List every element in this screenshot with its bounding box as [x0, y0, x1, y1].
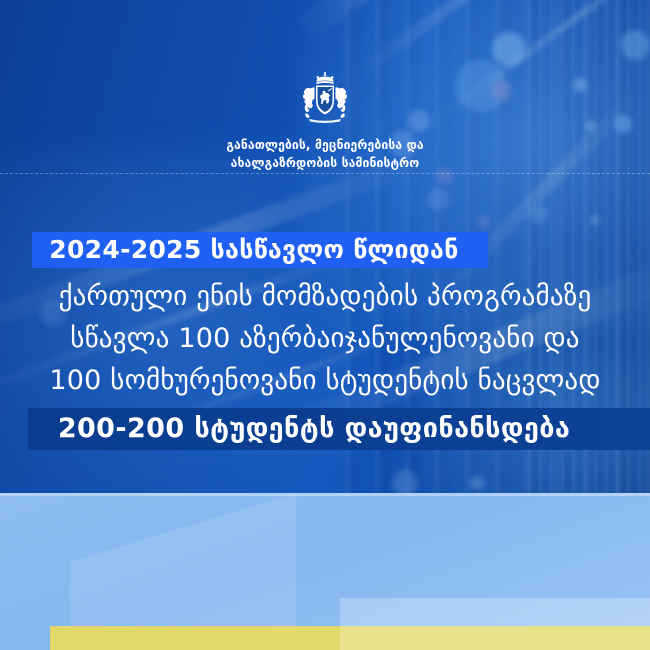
background-bokeh-circle [477, 215, 491, 229]
accent-yellow-bar-highlight [340, 626, 650, 650]
headline-final-text: 200-200 სტუდენტს დაუფინანსდება [0, 408, 650, 450]
background-bokeh-circle [470, 476, 484, 490]
headline-block: 2024-2025 სასწავლო წლიდან ქართული ენის მ… [0, 232, 650, 450]
headline-kicker-text: 2024-2025 სასწავლო წლიდან [0, 232, 650, 268]
background-bokeh-circle [530, 205, 548, 223]
panel-top-edge-highlight [0, 493, 650, 496]
headline-line-3: 100 სომხურენოვანი სტუდენტის ნაცვლად [0, 364, 650, 398]
bottom-panel [0, 493, 650, 650]
headline-line-2: სწავლა 100 აზერბაიჯანულენოვანი და [0, 322, 650, 356]
background-bokeh-circle [590, 215, 600, 225]
headline-line-1: ქართული ენის მომზადების პროგრამაზე [0, 280, 650, 314]
background-bokeh-circle [428, 188, 450, 210]
announcement-banner: განათლების, მეცნიერებისა და ახალგაზრდობი… [0, 0, 650, 650]
headline-kicker-row: 2024-2025 სასწავლო წლიდან [0, 232, 650, 268]
dashed-divider [0, 173, 650, 174]
banner-header: განათლების, მეცნიერებისა და ახალგაზრდობი… [0, 0, 650, 172]
georgian-coat-of-arms-icon [294, 72, 356, 130]
headline-final-row: 200-200 სტუდენტს დაუფინანსდება [0, 408, 650, 450]
ministry-name: განათლების, მეცნიერებისა და ახალგაზრდობი… [0, 137, 650, 172]
